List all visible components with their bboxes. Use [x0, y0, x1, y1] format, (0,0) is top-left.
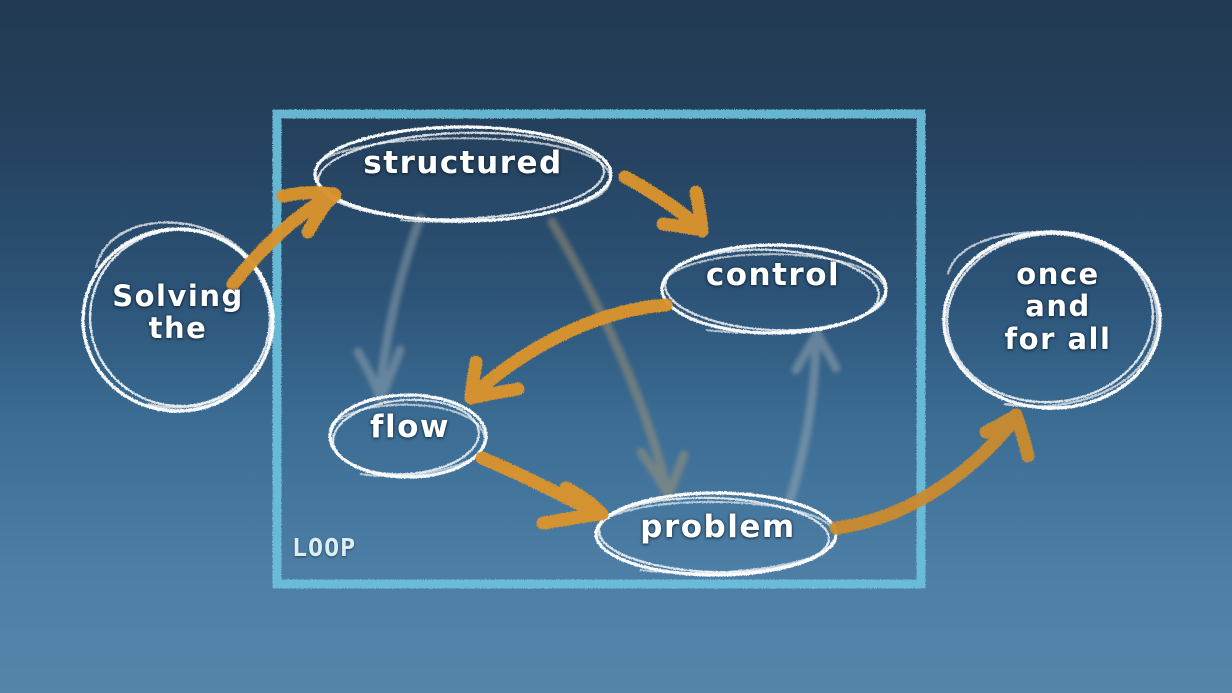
node-outline-problem — [596, 493, 836, 576]
edge-structured-to-problem — [552, 222, 684, 497]
node-outline-solving — [79, 218, 282, 417]
diagram-canvas: Solving the structured control flow prob… — [0, 0, 1232, 693]
node-outline-once — [940, 225, 1160, 410]
edge-problem-to-control — [790, 333, 836, 500]
diagram-svg — [0, 0, 1232, 693]
edge-flow-to-problem — [482, 458, 602, 523]
edge-structured-to-control — [625, 177, 702, 231]
edge-problem-to-once — [836, 415, 1028, 528]
edge-structured-to-flow — [358, 218, 420, 399]
edge-solving-to-structured — [233, 193, 335, 284]
node-outline-flow — [330, 395, 486, 479]
node-outline-structured — [315, 127, 611, 224]
node-outline-control — [662, 244, 886, 335]
